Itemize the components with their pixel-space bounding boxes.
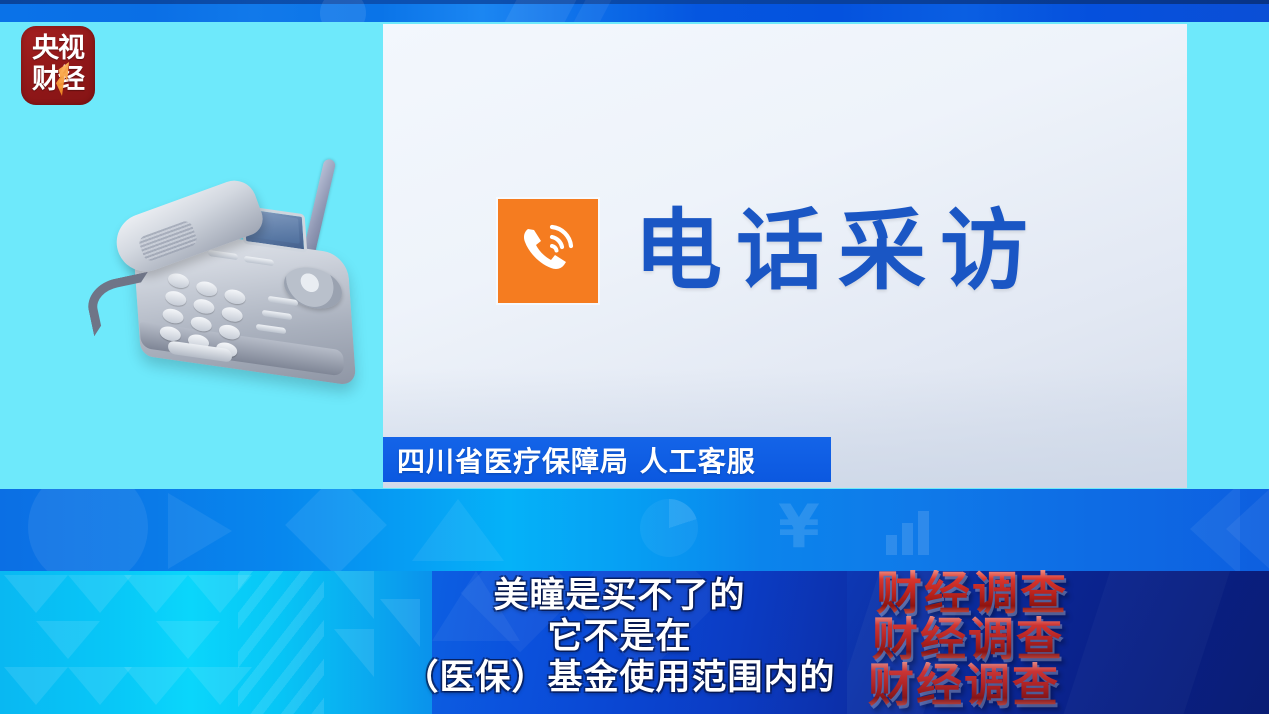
interview-source-bar: 四川省医疗保障局 人工客服: [383, 437, 831, 482]
cctv-logo-line-2: 财经: [21, 65, 95, 94]
video-frame: 央视 财经: [0, 0, 1269, 714]
phone-key: [190, 315, 212, 332]
top-strip-slash-decor-1: [499, 0, 580, 22]
cctv-logo-line-1: 央视: [21, 34, 95, 63]
bottom-mid-panel: [432, 571, 847, 714]
phone-key: [193, 298, 215, 315]
mid-decorative-band: ¥: [0, 489, 1269, 571]
program-title-layer-1: 财经调查: [876, 570, 1158, 616]
phone-key: [196, 280, 218, 297]
phone-key: [218, 324, 240, 341]
headline-label: 电话采访: [634, 205, 1042, 297]
decor-chevron: [124, 667, 188, 705]
cctv-finance-logo: 央视 财经: [21, 26, 95, 105]
decor-diamond: [567, 571, 723, 676]
decor-triangle: [380, 599, 420, 647]
decor-chevron: [4, 575, 68, 613]
phone-call-icon: [498, 199, 598, 303]
phone-key: [224, 288, 246, 305]
top-banner-strip: [0, 0, 1269, 22]
decor-triangle-right: [168, 493, 232, 569]
decor-chevron: [124, 575, 188, 613]
decor-chevron: [156, 621, 220, 659]
phone-key: [221, 306, 243, 323]
top-strip-circle-decor: [320, 0, 366, 22]
decor-diagonal-stripes: [238, 571, 324, 714]
bar-chart-icon: [886, 511, 942, 555]
decor-triangle: [334, 571, 374, 619]
decor-chevron: [68, 667, 132, 705]
interview-source-label: 四川省医疗保障局 人工客服: [397, 440, 756, 480]
telephone-interview-headline: 电话采访: [498, 199, 1042, 303]
decor-triangle: [334, 629, 374, 677]
decor-diamond: [285, 489, 387, 571]
decor-triangle-up: [412, 499, 504, 561]
decor-circle: [28, 489, 148, 571]
decor-chevron-2: [1226, 489, 1269, 571]
bottom-left-pattern: [0, 571, 432, 714]
phone-key: [168, 272, 190, 289]
program-title-layer-2: 财经调查: [872, 616, 1158, 662]
yen-currency-icon: ¥: [778, 497, 820, 557]
decor-chevron: [68, 575, 132, 613]
program-title-logo: 财经调查 财经调查 财经调查: [868, 568, 1158, 714]
decor-chevron: [4, 667, 68, 705]
pie-chart-icon: [640, 499, 698, 557]
desk-telephone-photo: [96, 140, 386, 402]
decor-chevron: [36, 621, 100, 659]
program-title-layer-3: 财经调查: [868, 662, 1158, 708]
